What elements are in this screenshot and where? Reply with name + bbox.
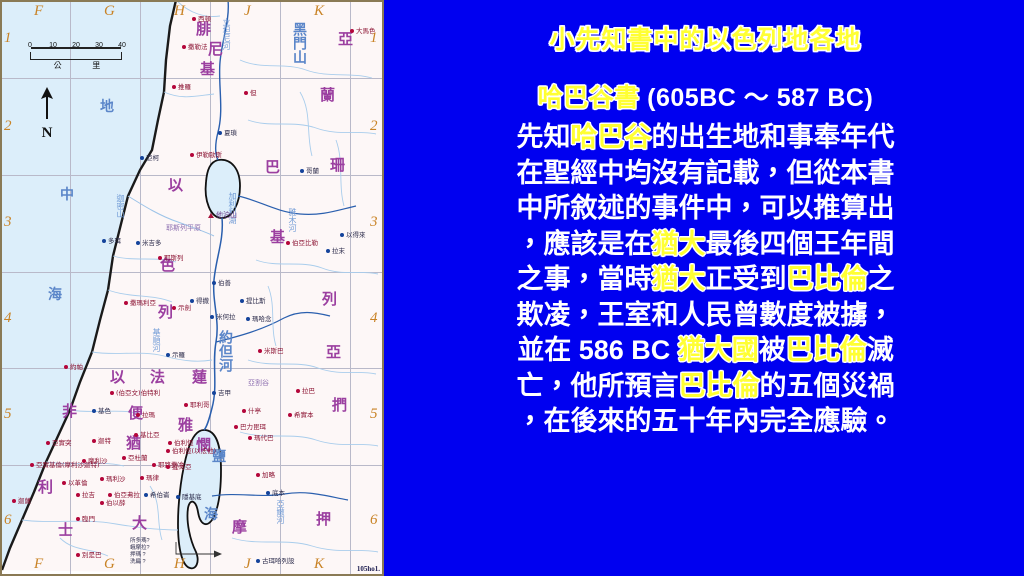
city-marker-dot — [240, 299, 244, 303]
region-label: 列 — [322, 292, 338, 307]
body-text-run: 滅 — [867, 335, 894, 365]
slide-body-text: 先知哈巴谷的出生地和事奉年代在聖經中均沒有記載，但從本書中所敘述的事件中，可以推… — [406, 120, 1006, 440]
city-label: 推羅 — [178, 84, 191, 91]
region-label: 海 — [204, 508, 218, 522]
city-label: 伯亞比勒 — [292, 240, 318, 247]
region-label: 以 — [168, 178, 184, 193]
city-label: 隱基底 — [182, 494, 202, 501]
city-marker-dot — [172, 306, 176, 310]
city-marker-dot — [110, 391, 114, 395]
water-feature-label: 立坦尼河 — [222, 18, 230, 50]
city-label: 別是巴 — [82, 552, 102, 559]
grid-letter-top-f: F — [34, 3, 43, 20]
city-marker-dot — [182, 45, 186, 49]
water-feature-label: 基順河 — [152, 328, 160, 352]
plain-legend-row: 押瑪 ? — [130, 552, 150, 559]
city-label: 得撒 — [196, 298, 209, 305]
body-text-run: 並在 586 BC — [517, 335, 678, 365]
city-label: 底本 — [272, 490, 285, 497]
highlighted-term: 猶大 — [652, 229, 706, 259]
region-label: 珊 — [330, 158, 346, 173]
city-marker-dot — [102, 239, 106, 243]
city-marker-dot — [76, 517, 80, 521]
grid-line-vertical — [70, 0, 71, 576]
city-label: 哥蘭 — [306, 168, 319, 175]
body-text-line: 在聖經中均沒有記載，但從本書 — [406, 156, 1006, 192]
body-text-run: ，應該是在 — [517, 229, 652, 259]
plain-legend-row: 洗扁 ? — [130, 559, 150, 566]
highlighted-term: 猶大 — [652, 264, 706, 294]
grid-letter-top-k: K — [314, 3, 324, 20]
body-text-run: 欺凌，王室和人民曾數度被擄， — [517, 300, 895, 330]
body-text-run: 之事，當時 — [517, 264, 652, 294]
region-label: 摩 — [232, 520, 248, 535]
region-label: 捫 — [332, 398, 348, 413]
body-text-run: 被 — [759, 335, 786, 365]
plain-legend-row: 所多瑪? — [130, 538, 150, 545]
city-label: 吉甲 — [218, 390, 231, 397]
city-marker-dot — [242, 409, 246, 413]
water-feature-label: 約但河 — [218, 330, 232, 372]
mountain-marker-icon — [208, 213, 214, 218]
city-label: 加略 — [262, 472, 275, 479]
body-text-run: 中所敘述的事件中，可以推算出 — [517, 193, 895, 223]
city-label: 米吉多 — [142, 240, 162, 247]
region-label: 非 — [62, 404, 78, 419]
region-label: 海 — [48, 288, 62, 302]
city-marker-dot — [76, 493, 80, 497]
city-marker-dot — [190, 299, 194, 303]
grid-number-left-5: 5 — [4, 406, 12, 423]
city-marker-dot — [288, 413, 292, 417]
city-marker-dot — [134, 433, 138, 437]
city-label: (伯亞文)伯特利 — [116, 390, 160, 397]
region-label: 押 — [316, 512, 332, 527]
city-marker-dot — [144, 493, 148, 497]
body-text-run: 在聖經中均沒有記載，但從本書 — [517, 158, 895, 188]
city-marker-dot — [266, 491, 270, 495]
city-label: 臨門 — [82, 516, 95, 523]
cities-of-plain-legend: 所多瑪?蛾摩拉?押瑪 ?洗扁 ? — [130, 538, 150, 566]
city-label: 拉末 — [332, 248, 345, 255]
city-label: 瑪利沙 — [106, 476, 126, 483]
city-marker-dot — [122, 456, 126, 460]
city-label: 希伯崙 — [150, 492, 170, 499]
city-marker-dot — [136, 241, 140, 245]
city-marker-dot — [76, 553, 80, 557]
city-label: 拉巴 — [302, 388, 315, 395]
city-marker-dot — [248, 436, 252, 440]
city-marker-dot — [46, 441, 50, 445]
region-label: 以 — [110, 370, 126, 385]
grid-line-horizontal — [0, 272, 384, 273]
water-feature-label: 亞嫩河 — [276, 500, 284, 524]
city-label: 伯亞弗拉 — [114, 492, 140, 499]
grid-line-horizontal — [0, 78, 384, 79]
scale-unit-labels: 公 里 — [30, 60, 122, 71]
city-marker-dot — [168, 441, 172, 445]
grid-number-left-1: 1 — [4, 30, 12, 47]
city-marker-dot — [300, 169, 304, 173]
city-marker-dot — [340, 233, 344, 237]
grid-letter-top-h: H — [174, 3, 185, 20]
city-label: 迦薩 — [18, 498, 31, 505]
scale-bar: 010203040 公 里 — [30, 42, 122, 71]
grid-letter-top-j: J — [244, 3, 251, 20]
region-label: 亞 — [326, 345, 342, 360]
city-marker-dot — [210, 315, 214, 319]
city-marker-dot — [82, 459, 86, 463]
north-arrow-icon — [34, 85, 60, 121]
city-label: 撒勒法 — [188, 44, 208, 51]
grid-number-left-6: 6 — [4, 512, 12, 529]
city-label: 米斯巴 — [264, 348, 284, 355]
water-feature-label: 黑門山 — [292, 22, 306, 64]
city-marker-dot — [244, 91, 248, 95]
grid-line-vertical — [210, 0, 211, 576]
city-marker-dot — [190, 153, 194, 157]
city-label: 提哥亞 — [172, 464, 192, 471]
city-marker-dot — [12, 499, 16, 503]
body-text-run: 的出生地和事奉年代 — [652, 122, 895, 152]
grid-number-right-6: 6 — [370, 512, 378, 529]
city-marker-dot — [256, 559, 260, 563]
highlighted-term: 巴比倫 — [679, 371, 760, 401]
city-marker-dot — [158, 256, 162, 260]
highlighted-term: 哈巴谷 — [571, 122, 652, 152]
body-text-line: 並在 586 BC 猶大國被巴比倫滅 — [406, 333, 1006, 369]
region-label: 亞 — [338, 32, 354, 47]
city-marker-dot — [246, 317, 250, 321]
city-marker-dot — [136, 413, 140, 417]
grid-line-vertical — [350, 0, 351, 576]
grid-number-right-2: 2 — [370, 118, 378, 135]
region-label: 士 — [58, 523, 74, 538]
grid-number-right-1: 1 — [370, 30, 378, 47]
grid-line-vertical — [140, 0, 141, 576]
city-marker-dot — [92, 409, 96, 413]
city-label: 約帕 — [70, 364, 83, 371]
city-label: 拉瑪 — [142, 412, 155, 419]
city-label: 瑪哈念 — [252, 316, 272, 323]
city-label: 什亭 — [248, 408, 261, 415]
city-marker-dot — [296, 389, 300, 393]
region-label: 雅 — [178, 418, 194, 433]
city-marker-dot — [166, 465, 170, 469]
water-feature-label: 迦密山 — [116, 194, 124, 218]
legend-pointer-arrow-icon — [174, 540, 232, 564]
region-label: 腓 — [196, 22, 212, 37]
city-marker-dot — [100, 477, 104, 481]
city-label: 希實本 — [294, 412, 314, 419]
city-label: 示羅 — [172, 352, 185, 359]
city-label: 撒瑪利亞 — [130, 300, 156, 307]
plain-legend-rows: 所多瑪?蛾摩拉?押瑪 ?洗扁 ? — [130, 538, 150, 566]
city-label: 伯利恆 — [174, 440, 194, 447]
city-marker-dot — [140, 476, 144, 480]
slide-subtitle: 哈巴谷書 (605BC ～ 587 BC) — [538, 78, 874, 114]
region-label: 利 — [38, 480, 54, 495]
body-text-run: 之 — [868, 264, 895, 294]
region-label: 蘭 — [320, 88, 336, 103]
scale-unit-li: 里 — [92, 60, 100, 71]
city-marker-dot — [124, 301, 128, 305]
grid-letter-top-g: G — [104, 3, 115, 20]
city-label: 拉吉 — [82, 492, 95, 499]
body-text-run: 的五個災禍 — [760, 371, 895, 401]
city-label: 耶斯列 — [164, 255, 184, 262]
city-label: 基比亞 — [140, 432, 160, 439]
body-text-run: 先知 — [517, 122, 571, 152]
city-marker-dot — [30, 463, 34, 467]
city-label: 多珥 — [108, 238, 121, 245]
grid-number-left-3: 3 — [4, 214, 12, 231]
city-marker-dot — [350, 29, 354, 33]
city-label: 但 — [250, 90, 257, 97]
scale-unit-gong: 公 — [54, 60, 62, 71]
region-label: 地 — [100, 100, 114, 114]
city-marker-dot — [286, 241, 290, 245]
city-marker-dot — [184, 403, 188, 407]
grid-number-left-2: 2 — [4, 118, 12, 135]
city-marker-dot — [62, 481, 66, 485]
body-text-run: 最後四個王年間 — [706, 229, 895, 259]
city-label: 耶利哥 — [190, 402, 210, 409]
grid-number-right-5: 5 — [370, 406, 378, 423]
body-text-run: ，在後來的五十年內完全應驗。 — [517, 406, 895, 436]
city-label: 米何拉 — [216, 314, 236, 321]
city-marker-dot — [326, 249, 330, 253]
scale-bar-graphic — [30, 52, 122, 60]
city-marker-dot — [176, 495, 180, 499]
city-marker-dot — [212, 281, 216, 285]
city-marker-dot — [218, 131, 222, 135]
subtitle-date-range: (605BC ～ 587 BC) — [640, 84, 874, 112]
city-label: 摩利沙 — [88, 458, 108, 465]
region-label: 大 — [132, 516, 148, 531]
region-label: 基 — [270, 230, 286, 245]
city-label: 伯以薛 — [106, 500, 126, 507]
grid-number-left-4: 4 — [4, 310, 12, 327]
city-label: 以得來 — [346, 232, 366, 239]
grid-letter-bottom-f: F — [34, 556, 43, 573]
grid-number-right-4: 4 — [370, 310, 378, 327]
grid-line-horizontal — [0, 175, 384, 176]
city-label: 夏瑣 — [224, 130, 237, 137]
body-text-line: 中所敘述的事件中，可以推算出 — [406, 191, 1006, 227]
mountain-label: 他泊山 — [216, 212, 237, 219]
region-label: 法 — [150, 370, 166, 385]
city-marker-dot — [166, 353, 170, 357]
highlighted-term: 巴比倫 — [786, 335, 867, 365]
body-text-line: ，應該是在猶大最後四個王年間 — [406, 227, 1006, 263]
body-text-line: 亡，他所預言巴比倫的五個災禍 — [406, 369, 1006, 405]
city-label: 亞柯 — [146, 155, 159, 162]
compass-rose: N — [34, 85, 60, 140]
city-marker-dot — [64, 365, 68, 369]
city-marker-dot — [152, 463, 156, 467]
water-feature-label: 雅木河 — [288, 208, 296, 232]
body-text-line: 欺凌，王室和人民曾數度被擄， — [406, 298, 1006, 334]
region-label: 蓮 — [192, 370, 208, 385]
city-label: 伊勒歐斯 — [196, 152, 222, 159]
highlighted-term: 巴比倫 — [787, 264, 868, 294]
city-marker-dot — [92, 439, 96, 443]
map-watermark: 105ho1. — [357, 565, 380, 573]
city-label: 西頓 — [198, 16, 211, 23]
city-label: 伯利恆(以法他) — [172, 448, 216, 455]
body-text-run: 正受到 — [706, 264, 787, 294]
region-label: 巴 — [265, 160, 281, 175]
city-label: 亞實突 — [52, 440, 72, 447]
grid-letter-bottom-g: G — [104, 556, 115, 573]
region-label: 基 — [200, 62, 216, 77]
city-label: 瑪律 — [146, 475, 159, 482]
city-marker-dot — [108, 493, 112, 497]
city-label: 迦特 — [98, 438, 111, 445]
city-label: 巴力毘珥 — [240, 424, 266, 431]
city-label: 亞杜蘭 — [128, 455, 148, 462]
plain-label: 耶斯列平原 — [166, 225, 201, 232]
city-marker-dot — [166, 449, 170, 453]
city-marker-dot — [172, 85, 176, 89]
city-marker-dot — [258, 349, 262, 353]
city-label: 以革倫 — [68, 480, 88, 487]
city-label: 提比斯 — [246, 298, 266, 305]
city-marker-dot — [256, 473, 260, 477]
body-text-line: 之事，當時猶大正受到巴比倫之 — [406, 262, 1006, 298]
city-label: 伯善 — [218, 280, 231, 287]
city-label: 瑪代巴 — [254, 435, 274, 442]
body-text-line: 先知哈巴谷的出生地和事奉年代 — [406, 120, 1006, 156]
body-text-line: ，在後來的五十年內完全應驗。 — [406, 404, 1006, 440]
city-marker-dot — [234, 425, 238, 429]
region-label: 中 — [60, 188, 74, 202]
grid-number-right-3: 3 — [370, 214, 378, 231]
map-panel: 010203040 公 里 N 中海以色列以法蓮非利士便雅憫猶大巴珊基列亞捫摩押… — [0, 0, 387, 576]
grid-letter-bottom-j: J — [244, 556, 251, 573]
slide-root: 010203040 公 里 N 中海以色列以法蓮非利士便雅憫猶大巴珊基列亞捫摩押… — [0, 0, 1024, 576]
plain-legend-row: 蛾摩拉? — [130, 545, 150, 552]
body-text-run: 亡，他所預言 — [517, 371, 679, 401]
text-panel: 小先知書中的以色列地各地 哈巴谷書 (605BC ～ 587 BC) 先知哈巴谷… — [387, 0, 1024, 576]
highlighted-term: 猶大國 — [678, 335, 759, 365]
city-marker-dot — [100, 501, 104, 505]
subtitle-book-name: 哈巴谷書 — [538, 84, 640, 112]
city-marker-dot — [140, 156, 144, 160]
slide-title: 小先知書中的以色列地各地 — [549, 20, 861, 56]
city-label: 基色 — [98, 408, 111, 415]
grid-letter-bottom-k: K — [314, 556, 324, 573]
city-marker-dot — [212, 391, 216, 395]
plain-label: 亞割谷 — [248, 380, 269, 387]
compass-north-label: N — [34, 126, 60, 140]
water-feature-label: 加利利湖 — [228, 192, 236, 224]
city-label: 示劍 — [178, 305, 191, 312]
city-marker-dot — [192, 17, 196, 21]
city-label: 古珥哈列設 — [262, 558, 295, 565]
